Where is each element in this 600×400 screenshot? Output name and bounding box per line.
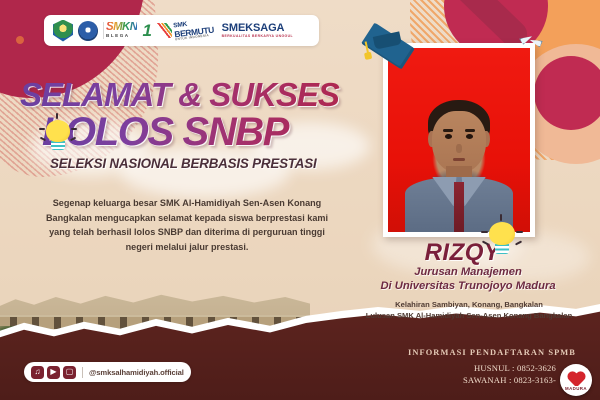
swoosh-icon [157,23,172,38]
program-line-2: Di Universitas Trunojoyo Madura [358,280,578,294]
headline-line-1: SELAMAT & SUKSES [20,78,365,111]
portrait-mouth [453,158,466,161]
bulb-base [495,244,510,254]
social-handle[interactable]: @smksalhamidiyah.official [89,368,184,377]
portrait-brow-right [465,129,475,132]
lightbulb-icon [489,222,515,254]
contact-husnul[interactable]: HUSNUL : 0852-3626 [463,362,556,374]
bulb-base [51,141,64,150]
smeksaga-logo: SMEKSAGA BERKUALITAS BERKARYA UNGGUL [222,23,293,39]
portrait-necktie [454,182,464,232]
crimson-circle-decor-2 [534,56,600,130]
bulb-glass [489,222,515,245]
program-line-1: Jurusan Manajemen [358,266,578,280]
bulb-glass [46,120,70,142]
student-photo-card [383,43,535,237]
portrait-brow-left [443,129,453,132]
smeksaga-name: SMEKSAGA [222,23,293,34]
tiktok-icon[interactable]: ♫ [31,366,44,379]
headline-block: SELAMAT & SUKSES LOLOS SNBP SELEKSI NASI… [20,78,365,171]
portrait-face [432,111,486,174]
bulb-ray [500,214,502,221]
student-name: RIZQY [375,239,550,267]
youtube-icon[interactable]: ▶ [47,366,60,379]
social-divider [82,367,83,378]
student-portrait [388,48,530,232]
smkn-text: SMKN [106,22,137,34]
poster-canvas: SMKN BLEGA 1 SMK BERMUTU UNTUK INDONESIA… [0,0,600,400]
portrait-nose [456,144,462,153]
badge-label: MADURA [564,386,588,391]
bulb-ray [481,231,488,233]
congratulation-paragraph: Segenap keluarga besar SMK Al-Hamidiyah … [38,196,336,255]
student-program: Jurusan Manajemen Di Universitas Trunojo… [358,266,578,293]
student-school-info: Lulusan SMK Al-Hamidiyah Sen-Asen Konang… [350,310,588,321]
instagram-icon[interactable]: ▢ [63,366,76,379]
contact-sawanah[interactable]: SAWANAH : 0823-3163- [463,374,556,386]
headline-subtitle: SELEKSI NASIONAL BERBASIS PRESTASI [50,156,365,171]
social-media-bar[interactable]: ♫ ▶ ▢ @smksalhamidiyah.official [24,362,191,382]
footer-title: INFORMASI PENDAFTARAN SPMB [408,348,576,357]
bulb-ray [39,128,45,130]
headline-line-2: LOLOS SNBP [42,112,365,152]
blega-text: BLEGA [106,34,137,39]
smk-bermutu-logo: SMK BERMUTU UNTUK INDONESIA [157,21,214,39]
student-meta: Kelahiran Sambiyan, Konang, Bangkalan Lu… [350,299,588,322]
lightbulb-icon [46,120,70,150]
bulb-ray [516,231,523,233]
heart-badge-icon: MADURA [560,364,592,396]
smeksaga-tagline: BERKUALITAS BERKARYA UNGGUL [222,35,293,38]
footer-contacts: HUSNUL : 0852-3626 SAWANAH : 0823-3163- [463,362,556,386]
bulb-ray [71,128,77,130]
school-logo-bar: SMKN BLEGA 1 SMK BERMUTU UNTUK INDONESIA… [44,15,319,46]
cap-knot [364,52,372,60]
student-birth-info: Kelahiran Sambiyan, Konang, Bangkalan [350,299,588,310]
tut-wuri-handayani-icon [78,21,98,41]
school-number: 1 [142,22,151,39]
graduation-cap-icon [360,18,417,75]
smkn-blega-logo: SMKN BLEGA [103,22,137,39]
east-java-seal-icon [53,20,73,42]
bulb-ray [56,113,58,119]
